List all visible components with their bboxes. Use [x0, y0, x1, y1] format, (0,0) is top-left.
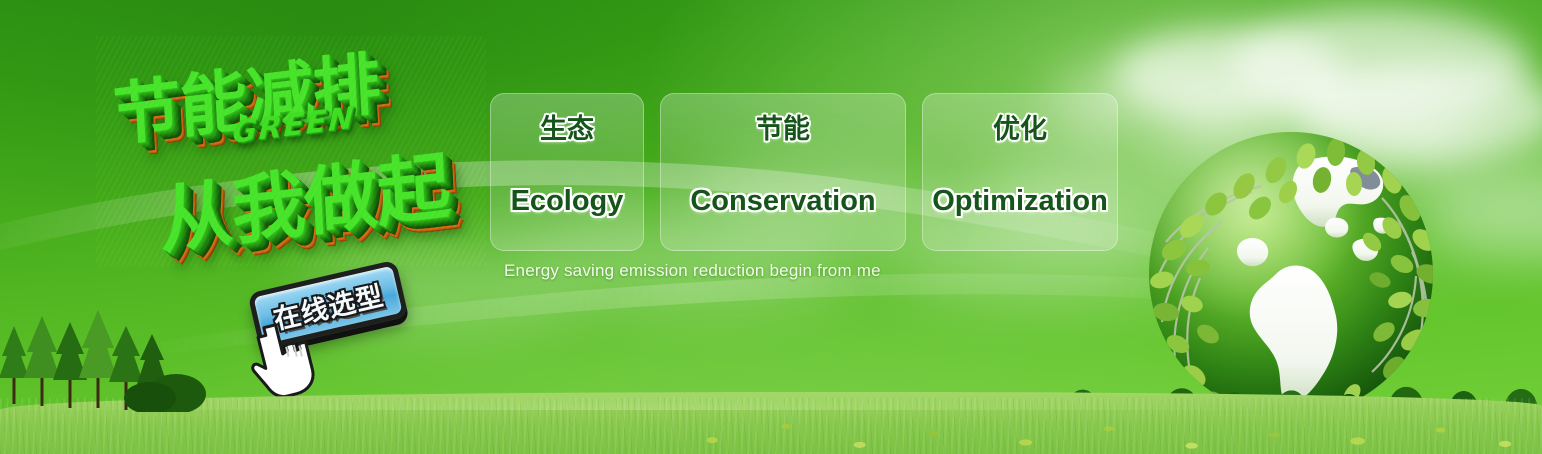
online-selection-button[interactable]: 在线选型 — [247, 260, 408, 351]
logo-green-word: GREEN — [232, 100, 357, 151]
feature-card-optimization[interactable]: 优化 Optimization — [922, 93, 1118, 251]
banner-tagline: Energy saving emission reduction begin f… — [504, 261, 881, 281]
brand-logo-3d: 节能减排 GREEN 从我做起 — [96, 36, 486, 266]
logo-headline-cn: 节能减排 — [110, 28, 381, 160]
feature-card-title-en: Conservation — [690, 187, 875, 216]
feature-card-title-en: Optimization — [932, 187, 1108, 216]
feature-card-title-cn: 优化 — [993, 116, 1047, 143]
online-selection-button-wrapper[interactable]: 在线选型 — [247, 260, 408, 351]
cloud-icon — [1380, 110, 1542, 180]
logo-subline-cn: 从我做起 — [156, 126, 451, 269]
green-energy-banner: 节能减排 GREEN 从我做起 在线选型 生态 Ecology 节能 Conse… — [0, 0, 1542, 454]
online-selection-label: 在线选型 — [269, 273, 387, 336]
cloud-icon — [1420, 170, 1542, 260]
grass-field — [0, 392, 1542, 454]
cloud-icon — [1230, 10, 1530, 120]
feature-card-conservation[interactable]: 节能 Conservation — [660, 93, 906, 251]
feature-cards: 生态 Ecology 节能 Conservation 优化 Optimizati… — [490, 93, 1118, 251]
feature-card-title-cn: 节能 — [756, 116, 810, 143]
cloud-icon — [1115, 28, 1345, 120]
feature-card-title-cn: 生态 — [540, 116, 594, 143]
cloud-icon — [1300, 62, 1542, 158]
feature-card-title-en: Ecology — [511, 187, 624, 216]
logo-texture-overlay — [96, 36, 486, 266]
cloud-icon — [1160, 95, 1480, 181]
feature-card-ecology[interactable]: 生态 Ecology — [490, 93, 644, 251]
